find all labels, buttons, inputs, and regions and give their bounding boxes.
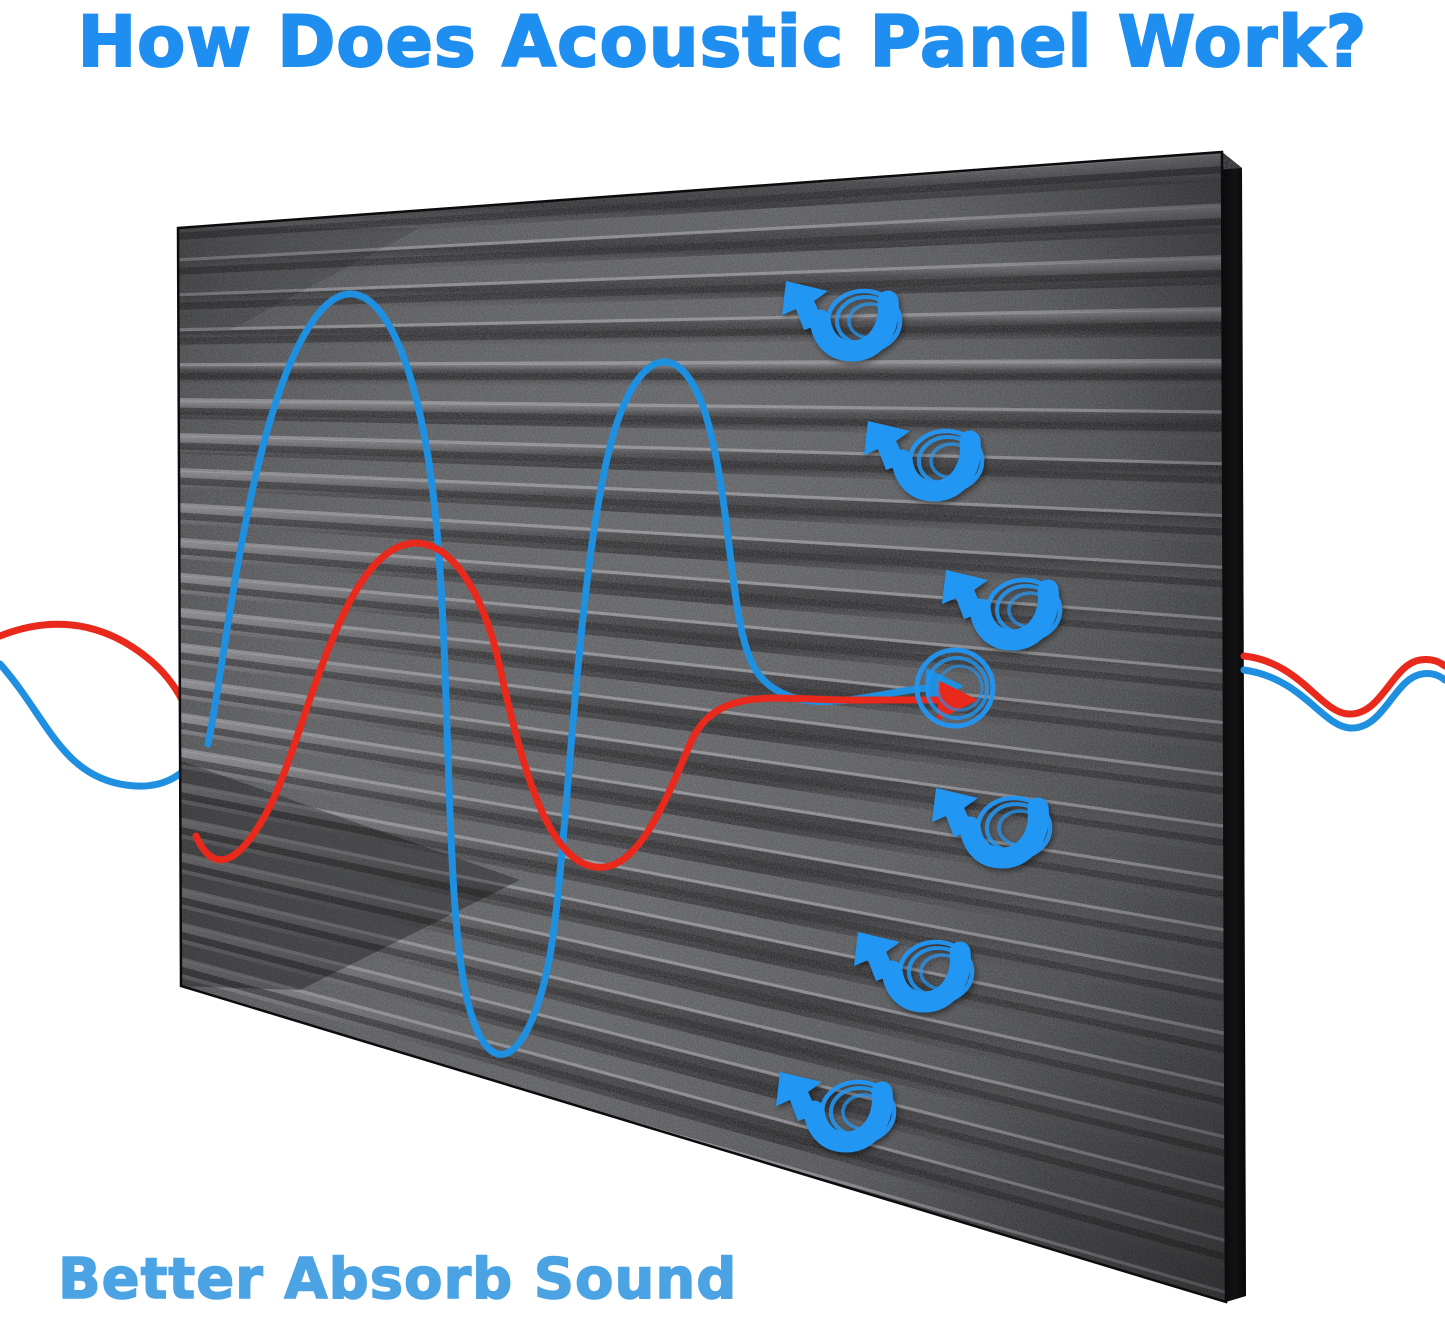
acoustic-panel-illustration <box>0 0 1445 1323</box>
infographic-root: How Does Acoustic Panel Work? Better Abs… <box>0 0 1445 1323</box>
footer-caption: Better Absorb Sound <box>58 1248 737 1312</box>
page-title: How Does Acoustic Panel Work? <box>0 2 1445 82</box>
